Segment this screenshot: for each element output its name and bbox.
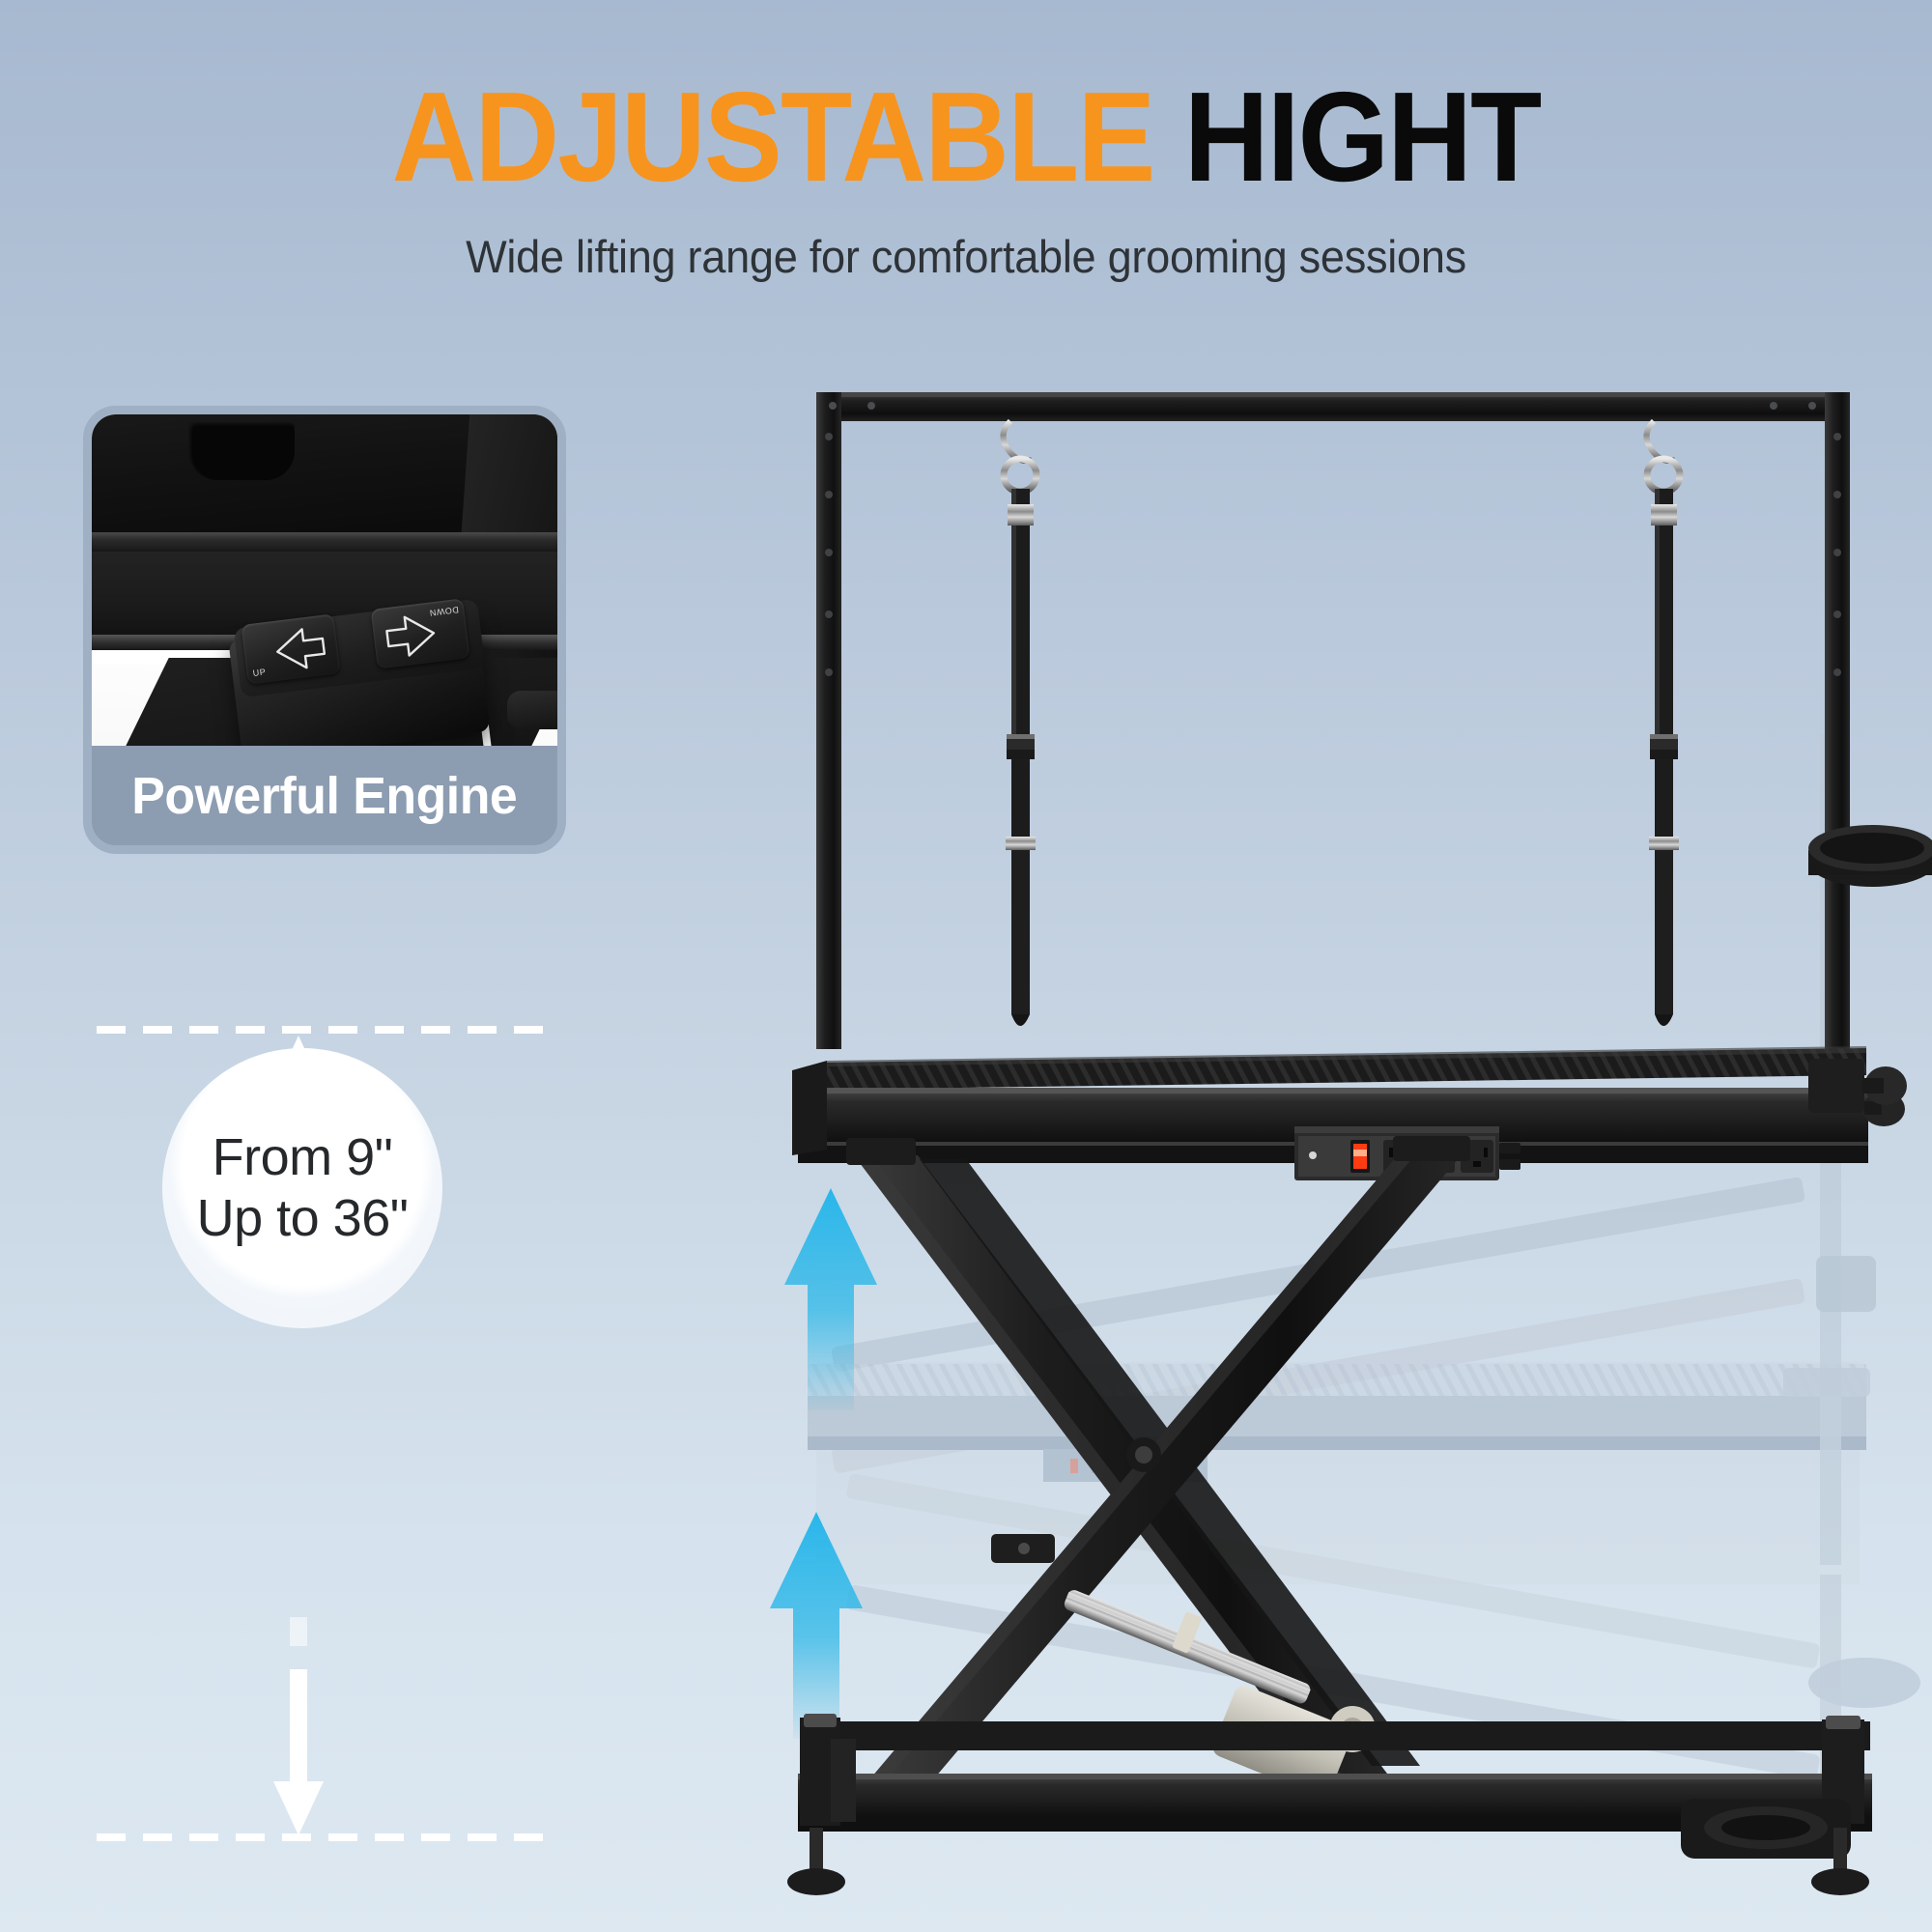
- product-illustration: [0, 0, 1932, 1932]
- grooming-leash-right[interactable]: [1646, 421, 1680, 1026]
- grooming-leash-left[interactable]: [1003, 421, 1037, 1026]
- leash-slider-top: [1008, 504, 1034, 526]
- leveling-foot-left: [787, 1828, 845, 1895]
- leash-ring-icon: [1004, 459, 1037, 492]
- leash-slider-top: [1651, 504, 1677, 526]
- indicator-led: [1309, 1151, 1317, 1159]
- usb-port: [1499, 1159, 1520, 1170]
- accessory-tray[interactable]: [1808, 825, 1932, 887]
- usb-port: [1499, 1143, 1520, 1153]
- leash-slider-bottom: [1649, 837, 1679, 850]
- leash-slider-bottom: [1006, 837, 1036, 850]
- overhead-grooming-arm: [816, 392, 1850, 1068]
- base-frame: [787, 1714, 1872, 1895]
- leash-ring-icon: [1647, 459, 1680, 492]
